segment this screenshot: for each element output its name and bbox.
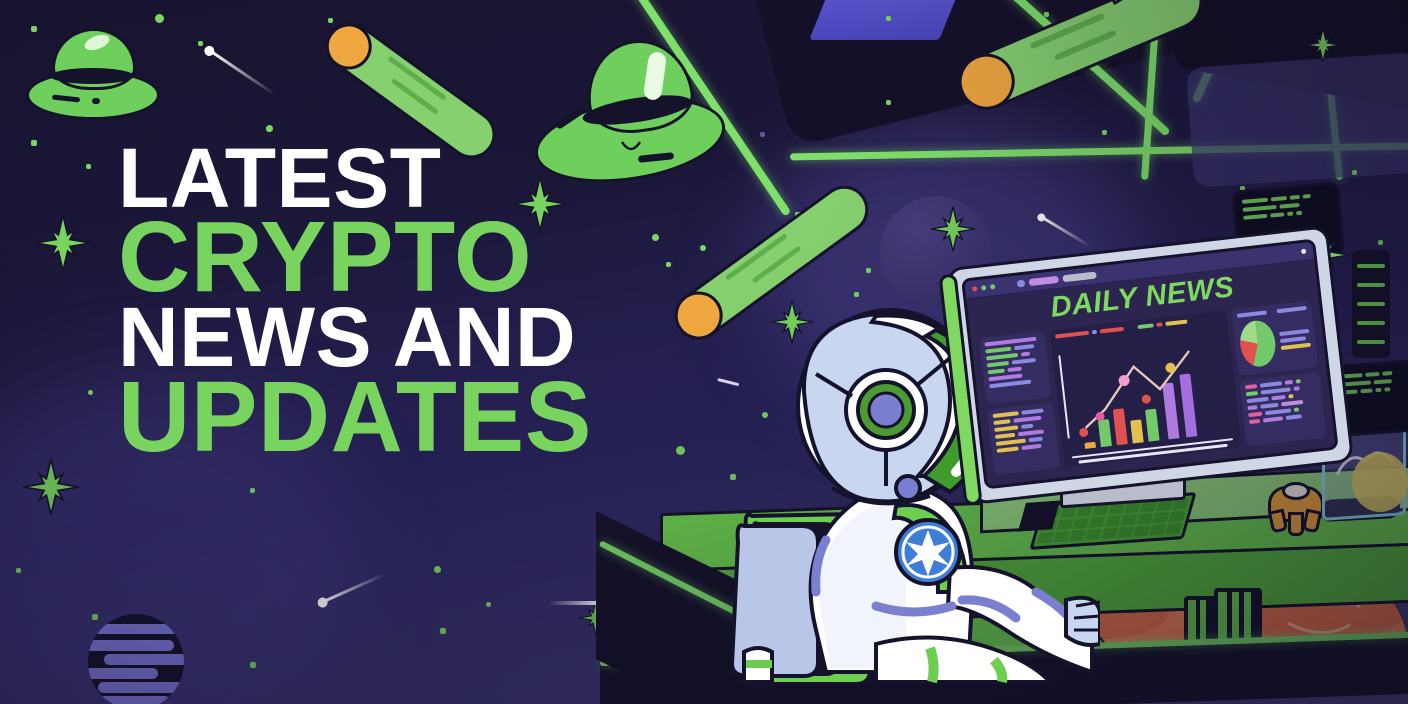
dashboard-chart-panel[interactable] <box>1049 310 1241 467</box>
chart-plot-area <box>1057 329 1234 451</box>
dashboard-left-column <box>979 331 1060 476</box>
right-card-pie[interactable] <box>1231 300 1318 375</box>
astronaut-leg <box>876 637 1050 682</box>
monitor-screen[interactable]: DAILY NEWS <box>961 239 1339 490</box>
headline-line-4: UPDATES <box>118 371 718 463</box>
pie-chart <box>1238 319 1278 369</box>
monitor[interactable]: DAILY NEWS <box>946 225 1354 505</box>
left-card-top[interactable] <box>979 331 1052 405</box>
browser-close-dot[interactable] <box>972 286 978 292</box>
left-card-bottom[interactable] <box>987 402 1060 476</box>
astronaut-glove <box>1066 598 1100 645</box>
browser-menu-dot[interactable] <box>1301 249 1307 255</box>
browser-address-bar[interactable] <box>1062 272 1097 283</box>
banner-illustration: LATEST CRYPTO NEWS AND UPDATES <box>0 0 1408 704</box>
browser-maximize-dot[interactable] <box>990 284 996 290</box>
browser-tab-icon[interactable] <box>1017 280 1026 288</box>
browser-tab-active[interactable] <box>1029 276 1060 286</box>
astronaut-chin-connector <box>896 476 920 500</box>
browser-minimize-dot[interactable] <box>981 285 987 291</box>
astronaut-badge <box>896 520 960 584</box>
dashboard-right-column <box>1231 300 1326 446</box>
headline-block: LATEST CRYPTO NEWS AND UPDATES <box>118 140 718 463</box>
astronaut-leg-stripe <box>930 648 934 682</box>
right-card-list[interactable] <box>1239 371 1326 446</box>
